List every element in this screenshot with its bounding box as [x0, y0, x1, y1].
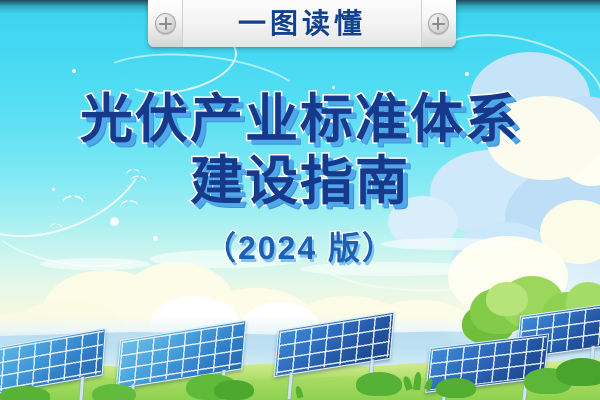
shrub — [92, 384, 136, 400]
banner-plaque[interactable]: 一图读懂 — [148, 0, 456, 47]
grass-blade — [424, 377, 434, 390]
title-line-2: 建设指南 — [0, 154, 600, 210]
grass-blade — [295, 385, 304, 398]
shrub — [436, 378, 476, 398]
shrub — [356, 372, 402, 396]
plus-circle-icon — [155, 13, 176, 34]
plus-circle-icon — [428, 13, 449, 34]
poster-canvas: 光伏产业标准体系 建设指南 （2024 版） 一图读懂 — [0, 0, 600, 400]
title-version: （2024 版） — [0, 223, 600, 269]
title-line-1: 光伏产业标准体系 — [0, 92, 600, 148]
shrub — [556, 358, 600, 386]
grass-blade — [413, 372, 422, 391]
shrub — [0, 386, 50, 400]
grass-blade — [402, 375, 413, 390]
banner-label: 一图读懂 — [238, 10, 366, 38]
shrub — [214, 380, 254, 400]
headline-block: 光伏产业标准体系 建设指南 （2024 版） — [0, 92, 600, 269]
